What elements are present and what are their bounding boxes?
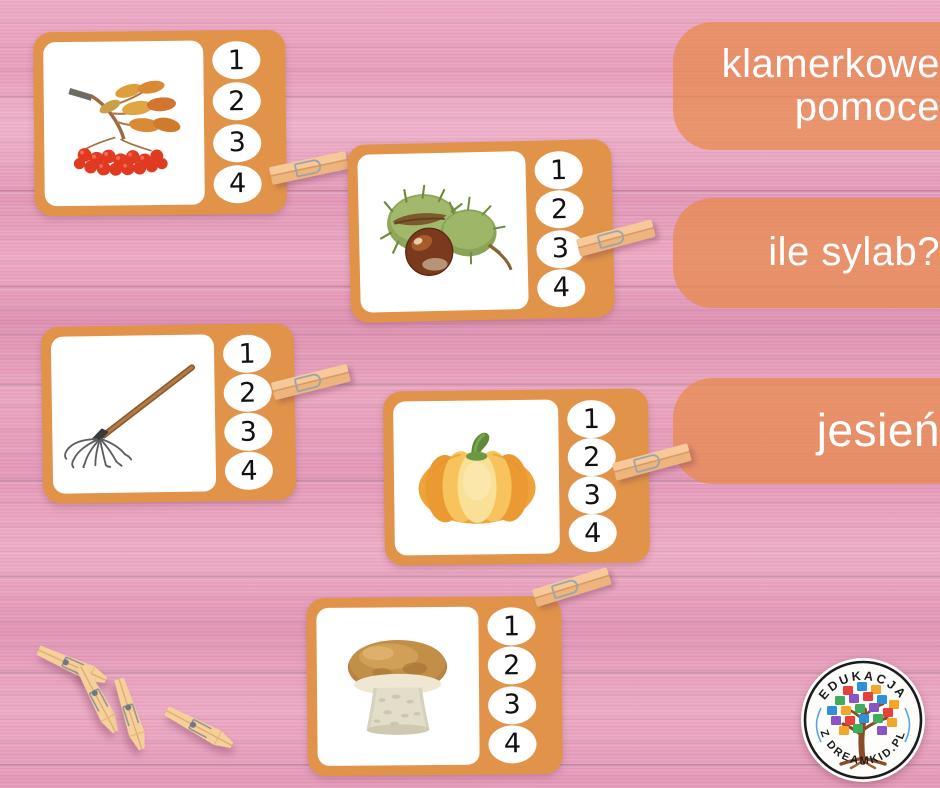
number-option-2[interactable]: 2 <box>568 438 616 477</box>
banner-season: jesień <box>673 378 940 484</box>
number-column-chestnut[interactable]: 1 2 3 4 <box>534 150 586 309</box>
poster-canvas: klamerkowe pomoce ile sylab? jesień <box>0 0 940 788</box>
number-option-1[interactable]: 1 <box>487 607 535 645</box>
number-option-2[interactable]: 2 <box>213 82 261 121</box>
number-option-1[interactable]: 1 <box>212 41 260 80</box>
number-option-2[interactable]: 2 <box>535 190 584 229</box>
banner-question: ile sylab? <box>673 198 940 308</box>
number-option-1[interactable]: 1 <box>567 400 615 439</box>
banner-title: klamerkowe pomoce <box>673 22 940 150</box>
number-option-2[interactable]: 2 <box>488 646 536 684</box>
banner-question-text: ile sylab? <box>768 231 940 274</box>
number-option-1[interactable]: 1 <box>534 151 583 190</box>
rowan-berries-branch-icon <box>55 55 194 191</box>
task-card-rake[interactable]: Copyright © DreamKid - pomoce dydaktyczn… <box>41 323 297 504</box>
plank-seam <box>0 576 940 580</box>
banner-season-text: jesień <box>817 406 940 456</box>
banner-title-line2: pomoce <box>673 86 940 129</box>
card-picture-pumpkin: Copyright © DreamKid - pomoce dydaktyczn… <box>393 399 560 555</box>
number-option-3[interactable]: 3 <box>488 686 536 724</box>
number-option-3[interactable]: 3 <box>568 476 616 515</box>
banner-title-line1: klamerkowe <box>673 43 940 86</box>
task-card-pumpkin[interactable]: Copyright © DreamKid - pomoce dydaktyczn… <box>383 388 650 565</box>
number-option-2[interactable]: 2 <box>223 373 272 412</box>
horse-chestnuts-icon <box>369 165 516 298</box>
task-card-rowan[interactable]: Copyright © DreamKid - pomoce dydaktyczn… <box>33 30 287 217</box>
brand-logo[interactable]: EDUKACJA Z DREAMKID.PL <box>801 658 925 782</box>
pumpkin-icon <box>405 413 548 541</box>
number-column-rowan[interactable]: 1 2 3 4 <box>212 40 262 204</box>
number-column-rake[interactable]: 1 2 3 4 <box>223 333 273 491</box>
task-card-mushroom[interactable]: Copyright © DreamKid - pomoce dydaktyczn… <box>306 596 563 776</box>
card-picture-chestnut: Copyright © DreamKid - pomoce dydaktyczn… <box>357 151 529 313</box>
task-card-chestnut[interactable]: Copyright © DreamKid - pomoce dydaktyczn… <box>347 139 615 323</box>
card-picture-mushroom: Copyright © DreamKid - pomoce dydaktyczn… <box>316 607 479 766</box>
garden-rake-icon <box>62 349 204 480</box>
number-option-4[interactable]: 4 <box>225 451 274 490</box>
number-option-4[interactable]: 4 <box>488 725 536 763</box>
number-option-3[interactable]: 3 <box>224 412 273 451</box>
number-option-4[interactable]: 4 <box>213 165 261 204</box>
card-picture-rowan: Copyright © DreamKid - pomoce dydaktyczn… <box>43 41 205 207</box>
number-column-mushroom[interactable]: 1 2 3 4 <box>487 606 536 764</box>
number-option-4[interactable]: 4 <box>568 514 616 553</box>
number-option-3[interactable]: 3 <box>213 124 261 163</box>
number-option-1[interactable]: 1 <box>223 334 272 373</box>
card-picture-rake: Copyright © DreamKid - pomoce dydaktyczn… <box>51 334 216 494</box>
boletus-mushroom-icon <box>328 621 468 752</box>
number-column-pumpkin[interactable]: 1 2 3 4 <box>567 399 617 554</box>
number-option-4[interactable]: 4 <box>537 269 586 308</box>
